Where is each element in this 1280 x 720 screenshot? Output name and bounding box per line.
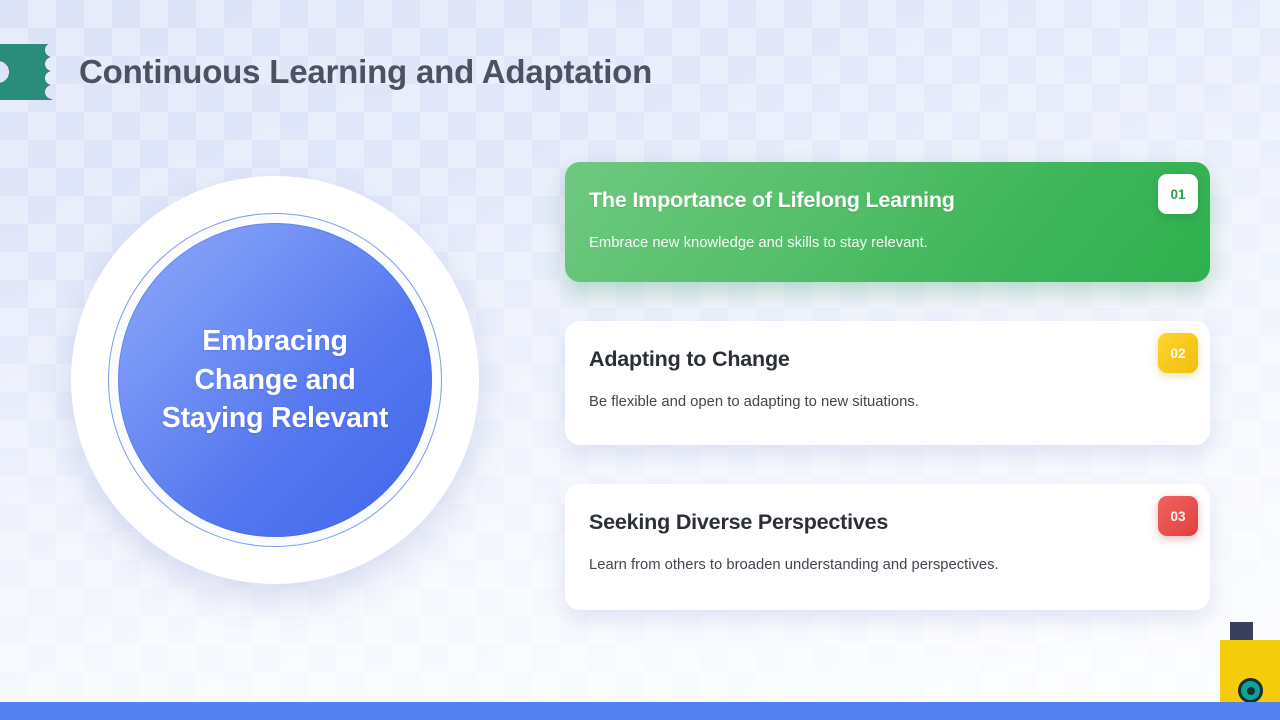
camera-widget-icon[interactable] [1220,622,1280,702]
card-description: Learn from others to broaden understandi… [589,556,1180,576]
list-item[interactable]: Adapting to Change Be flexible and open … [565,321,1210,445]
hero-circle: Embracing Change and Staying Relevant [71,176,479,584]
slide-canvas: Continuous Learning and Adaptation Embra… [0,0,1280,720]
camera-widget-body [1220,640,1280,702]
card-title: Adapting to Change [589,347,1180,373]
card-description: Embrace new knowledge and skills to stay… [589,234,1180,254]
status-badge: 03 [1158,496,1198,536]
status-badge: 01 [1158,174,1198,214]
list-item[interactable]: Seeking Diverse Perspectives Learn from … [565,484,1210,610]
card-title: The Importance of Lifelong Learning [589,188,1180,214]
camera-lens-icon [1238,678,1263,703]
status-badge: 02 [1158,333,1198,373]
hero-circle-inner: Embracing Change and Staying Relevant [118,223,432,537]
hero-circle-label: Embracing Change and Staying Relevant [160,322,390,438]
points-list: The Importance of Lifelong Learning Embr… [565,162,1210,610]
footer-accent-bar [0,702,1280,720]
list-item[interactable]: The Importance of Lifelong Learning Embr… [565,162,1210,282]
page-title: Continuous Learning and Adaptation [79,53,652,91]
ticket-stamp-icon [0,44,52,100]
card-title: Seeking Diverse Perspectives [589,510,1180,536]
card-description: Be flexible and open to adapting to new … [589,393,1180,413]
slide-header: Continuous Learning and Adaptation [0,44,652,100]
